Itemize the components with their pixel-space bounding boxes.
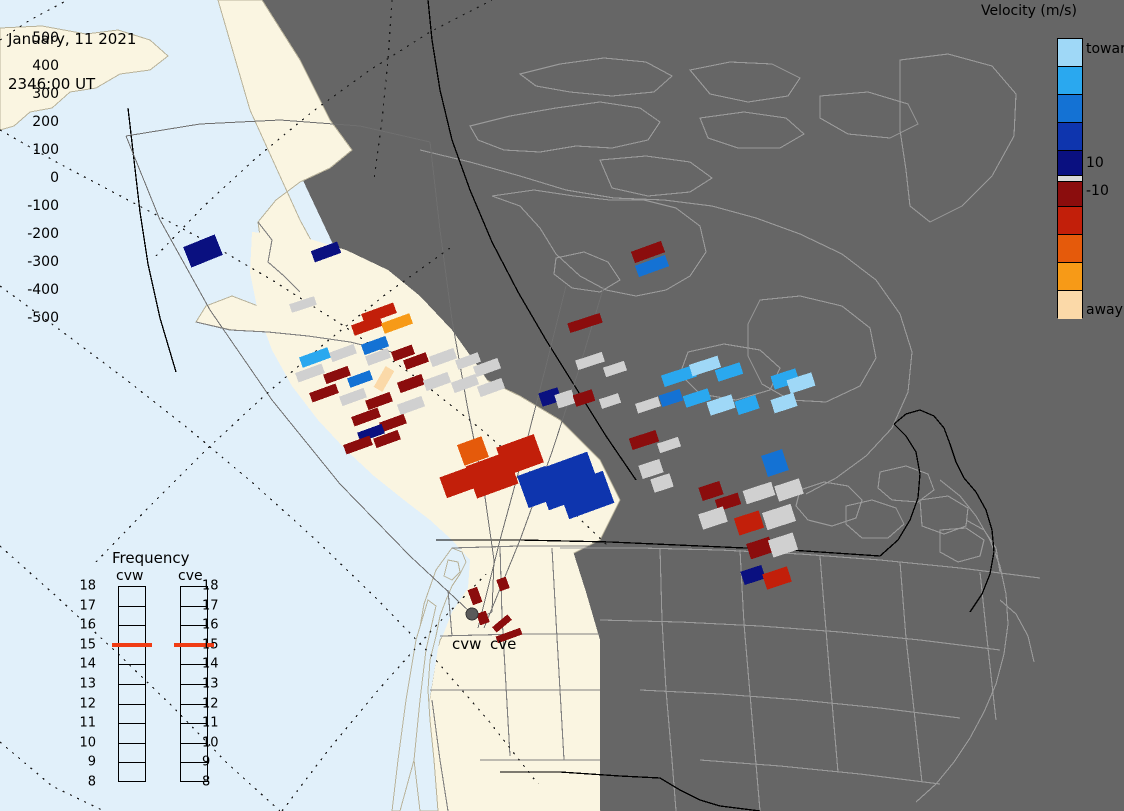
colorbar-tick: 400 <box>32 58 59 74</box>
frequency-tick: 11 <box>78 716 96 731</box>
frequency-cell <box>119 587 145 607</box>
colorbar-tick: 0 <box>50 170 59 186</box>
frequency-tick: 8 <box>202 775 210 790</box>
frequency-tick: 8 <box>78 775 96 790</box>
colorbar-segment <box>1058 291 1082 319</box>
colorbar-segment <box>1058 67 1082 95</box>
time-text: 2346:00 UT <box>8 77 136 92</box>
colorbar-tick: 100 <box>32 142 59 158</box>
frequency-tick: 17 <box>78 598 96 613</box>
radar-site-label-cvw: cvw <box>452 635 481 653</box>
map-canvas <box>0 0 1124 811</box>
colorbar-segment <box>1058 263 1082 291</box>
date-text: January, 11 2021 <box>8 32 136 47</box>
frequency-tick: 15 <box>202 637 219 652</box>
colorbar-tick: 200 <box>32 114 59 130</box>
frequency-tick: 10 <box>78 735 96 750</box>
frequency-tick: 9 <box>202 755 210 770</box>
colorbar-segment <box>1058 182 1082 207</box>
colorbar-tick: -500 <box>27 310 59 326</box>
frequency-cell <box>119 724 145 744</box>
colorbar-tick: -400 <box>27 282 59 298</box>
timestamp-block: January, 11 2021 2346:00 UT <box>8 2 136 122</box>
frequency-cell <box>119 607 145 627</box>
colorbar-segment <box>1058 95 1082 123</box>
frequency-tick: 14 <box>202 657 219 672</box>
colorbar-tick: 300 <box>32 86 59 102</box>
colorbar-neg-threshold-label: -10 <box>1086 183 1109 199</box>
colorbar-segment <box>1058 39 1082 67</box>
frequency-tick: 15 <box>78 637 96 652</box>
frequency-tick: 16 <box>202 618 219 633</box>
colorbar-toward-label: toward <box>1086 41 1124 57</box>
radar-site-label-cve: cve <box>490 635 516 653</box>
frequency-tick: 11 <box>202 716 219 731</box>
colorbar-tick: -100 <box>27 198 59 214</box>
frequency-tick: 18 <box>202 579 219 594</box>
frequency-tick: 17 <box>202 598 219 613</box>
colorbar-tick: -200 <box>27 226 59 242</box>
frequency-tick: 12 <box>202 696 219 711</box>
radar-site-marker <box>466 608 478 620</box>
frequency-cell <box>119 763 145 783</box>
colorbar-segment <box>1058 123 1082 151</box>
colorbar-away-label: away <box>1086 302 1123 318</box>
frequency-marker <box>112 643 152 647</box>
frequency-tick: 13 <box>202 677 219 692</box>
frequency-cell <box>119 705 145 725</box>
frequency-title: Frequency <box>112 549 190 567</box>
frequency-tick: 16 <box>78 618 96 633</box>
frequency-tick: 12 <box>78 696 96 711</box>
frequency-tick: 10 <box>202 735 219 750</box>
colorbar-segment <box>1058 207 1082 235</box>
colorbar-title: Velocity (m/s) <box>981 3 1077 19</box>
frequency-cell <box>119 685 145 705</box>
colorbar-pos-threshold-label: 10 <box>1086 155 1104 171</box>
radar-map-screenshot: January, 11 2021 2346:00 UT Velocity (m/… <box>0 0 1124 811</box>
colorbar-tick: 500 <box>32 30 59 46</box>
frequency-column-header: cvw <box>116 568 143 584</box>
frequency-cell <box>119 665 145 685</box>
frequency-cell <box>119 744 145 764</box>
frequency-tick: 14 <box>78 657 96 672</box>
colorbar-segment <box>1058 235 1082 263</box>
frequency-scale-cvw <box>118 586 146 782</box>
frequency-tick: 9 <box>78 755 96 770</box>
frequency-column-header: cve <box>178 568 203 584</box>
frequency-cell <box>119 646 145 666</box>
velocity-colorbar <box>1057 38 1083 318</box>
colorbar-segment <box>1058 151 1082 176</box>
colorbar-tick: -300 <box>27 254 59 270</box>
frequency-tick: 18 <box>78 579 96 594</box>
frequency-tick: 13 <box>78 677 96 692</box>
